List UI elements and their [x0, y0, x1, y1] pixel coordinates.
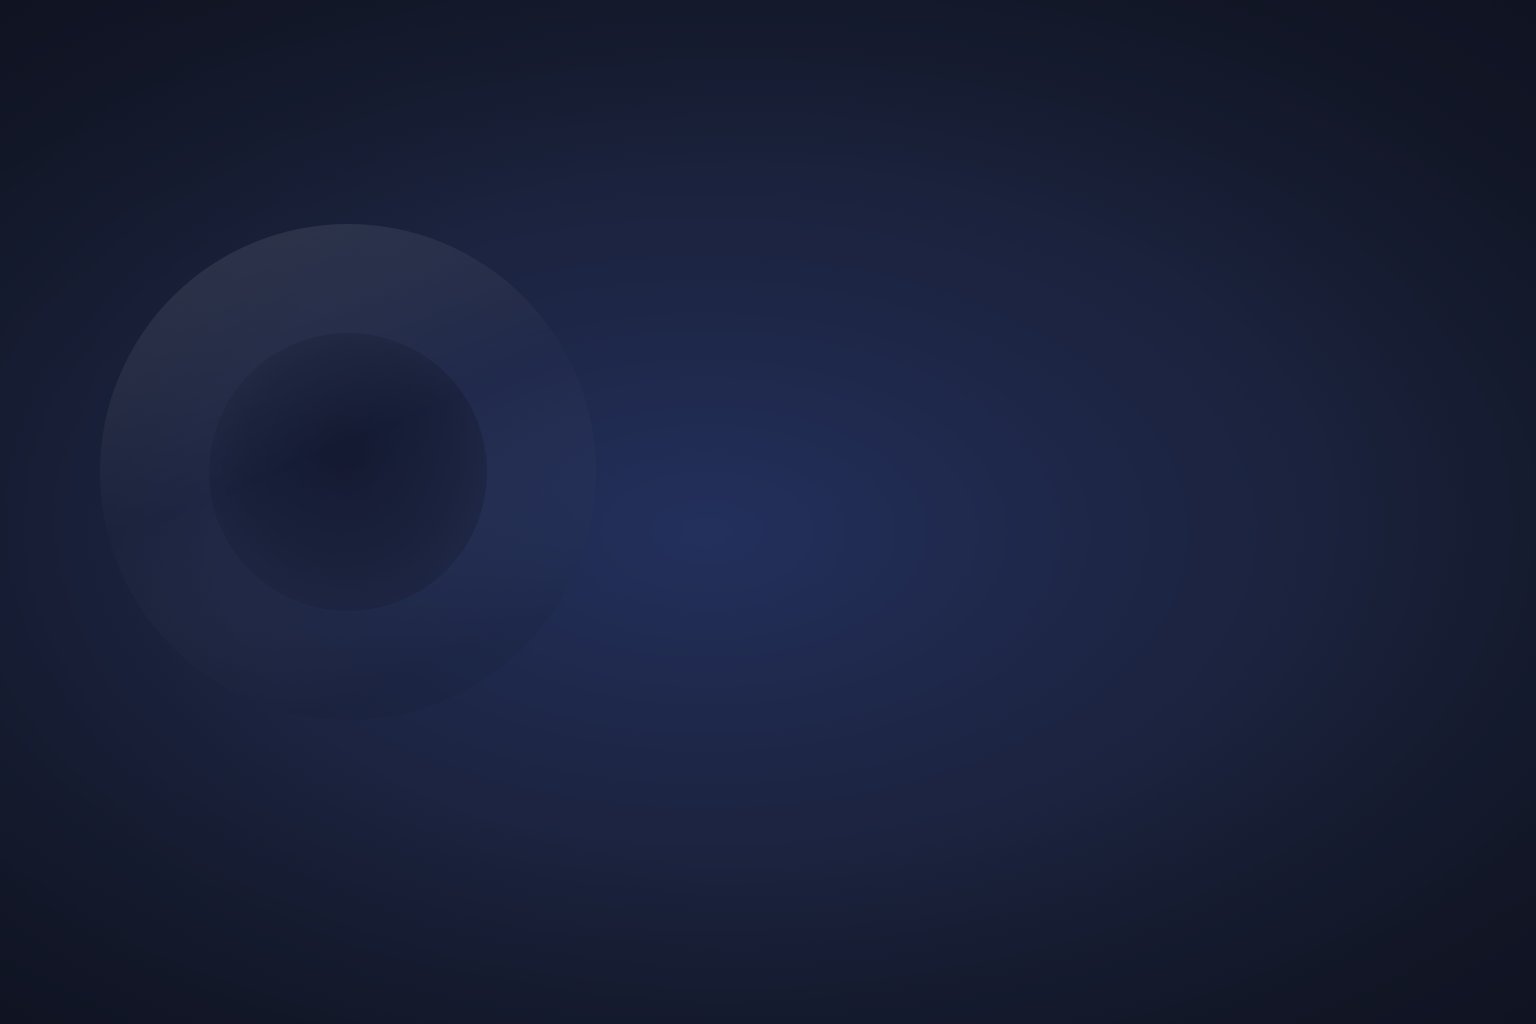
- infographic-canvas: [0, 0, 1536, 1024]
- donut-chart: [98, 222, 598, 722]
- donut-svg: [98, 222, 598, 722]
